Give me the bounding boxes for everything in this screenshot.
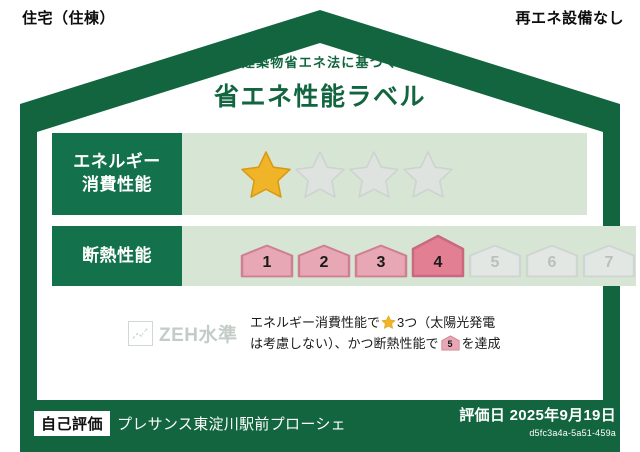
zeh-description-area: ZEH水準 エネルギー消費性能で3つ（太陽光発電は考慮しない）、かつ断熱性能で5… bbox=[128, 312, 548, 355]
tag-renewable-equipment-label: 再エネ設備なし bbox=[515, 7, 624, 28]
grade-badge[interactable]: 4 bbox=[411, 234, 465, 278]
zeh-desc-part2: は考慮しない）、かつ断熱性能で bbox=[250, 336, 439, 351]
star-filled-icon bbox=[240, 149, 292, 199]
grade-badge[interactable]: 3 bbox=[354, 244, 408, 278]
star-rating bbox=[240, 149, 454, 199]
footer-right: 評価日 2025年9月19日 d5fc3a4a-5a51-459a bbox=[459, 404, 616, 438]
grade-badge-value: 5 bbox=[468, 254, 522, 272]
energy-consumption-row: エネルギー 消費性能 bbox=[52, 133, 587, 215]
grade-scale: 1234567 bbox=[240, 234, 636, 278]
evaluation-date-label: 評価日 bbox=[459, 407, 505, 424]
grade-badge[interactable]: 1 bbox=[240, 244, 294, 278]
star-empty-icon bbox=[402, 149, 454, 199]
tag-renewable-equipment: 再エネ設備なし bbox=[480, 0, 640, 34]
grade-badge-value: 6 bbox=[525, 254, 579, 272]
energy-consumption-value bbox=[182, 133, 587, 215]
inline-grade-value: 5 bbox=[441, 337, 460, 352]
evaluation-id: d5fc3a4a-5a51-459a bbox=[459, 428, 616, 438]
grade-badge-value: 2 bbox=[297, 254, 351, 272]
zeh-label: ZEH水準 bbox=[159, 320, 238, 347]
building-name: プレサンス東淀川駅前プローシェ bbox=[117, 413, 346, 434]
grade-badge-value: 7 bbox=[582, 254, 636, 272]
grade-badge[interactable]: 7 bbox=[582, 244, 636, 278]
footer-left: 自己評価 プレサンス東淀川駅前プローシェ bbox=[34, 411, 346, 436]
grade-badge[interactable]: 6 bbox=[525, 244, 579, 278]
insulation-performance-label: 断熱性能 bbox=[52, 226, 182, 286]
insulation-performance-row: 断熱性能 1234567 bbox=[52, 226, 587, 286]
grade-badge-value: 3 bbox=[354, 254, 408, 272]
evaluation-date: 評価日 2025年9月19日 bbox=[459, 404, 616, 425]
insulation-performance-value: 1234567 bbox=[182, 226, 636, 286]
star-empty-icon bbox=[294, 149, 346, 199]
zeh-badge: ZEH水準 bbox=[128, 320, 250, 347]
evaluation-date-value: 2025年9月19日 bbox=[510, 407, 616, 424]
zeh-description: エネルギー消費性能で3つ（太陽光発電は考慮しない）、かつ断熱性能で5を達成 bbox=[250, 312, 548, 355]
insulation-performance-label-text: 断熱性能 bbox=[82, 245, 152, 268]
label-title-block: 建築物省エネ法に基づく 省エネ性能ラベル bbox=[0, 52, 640, 113]
inline-grade-badge: 5 bbox=[441, 335, 460, 351]
energy-consumption-label-line2: 消費性能 bbox=[82, 174, 152, 197]
tag-building-type-label: 住宅（住棟） bbox=[22, 7, 115, 28]
inline-star-icon bbox=[381, 315, 396, 329]
energy-consumption-label: エネルギー 消費性能 bbox=[52, 133, 182, 215]
star-empty-icon bbox=[348, 149, 400, 199]
grade-badge-value: 1 bbox=[240, 254, 294, 272]
label-title: 省エネ性能ラベル bbox=[0, 77, 640, 113]
grade-badge[interactable]: 2 bbox=[297, 244, 351, 278]
tag-building-type: 住宅（住棟） bbox=[0, 0, 142, 34]
energy-consumption-label-line1: エネルギー bbox=[73, 151, 161, 174]
energy-performance-label: 住宅（住棟） 再エネ設備なし 建築物省エネ法に基づく 省エネ性能ラベル エネルギ… bbox=[0, 0, 640, 452]
chart-square-icon bbox=[128, 321, 153, 346]
zeh-desc-star-count: 3つ（太陽光発電 bbox=[397, 315, 495, 330]
grade-badge-value: 4 bbox=[411, 254, 465, 272]
self-evaluation-badge: 自己評価 bbox=[34, 411, 110, 436]
grade-badge[interactable]: 5 bbox=[468, 244, 522, 278]
zeh-desc-part3: を達成 bbox=[462, 336, 501, 351]
label-subtitle: 建築物省エネ法に基づく bbox=[0, 52, 640, 71]
zeh-desc-part1: エネルギー消費性能で bbox=[250, 315, 380, 330]
